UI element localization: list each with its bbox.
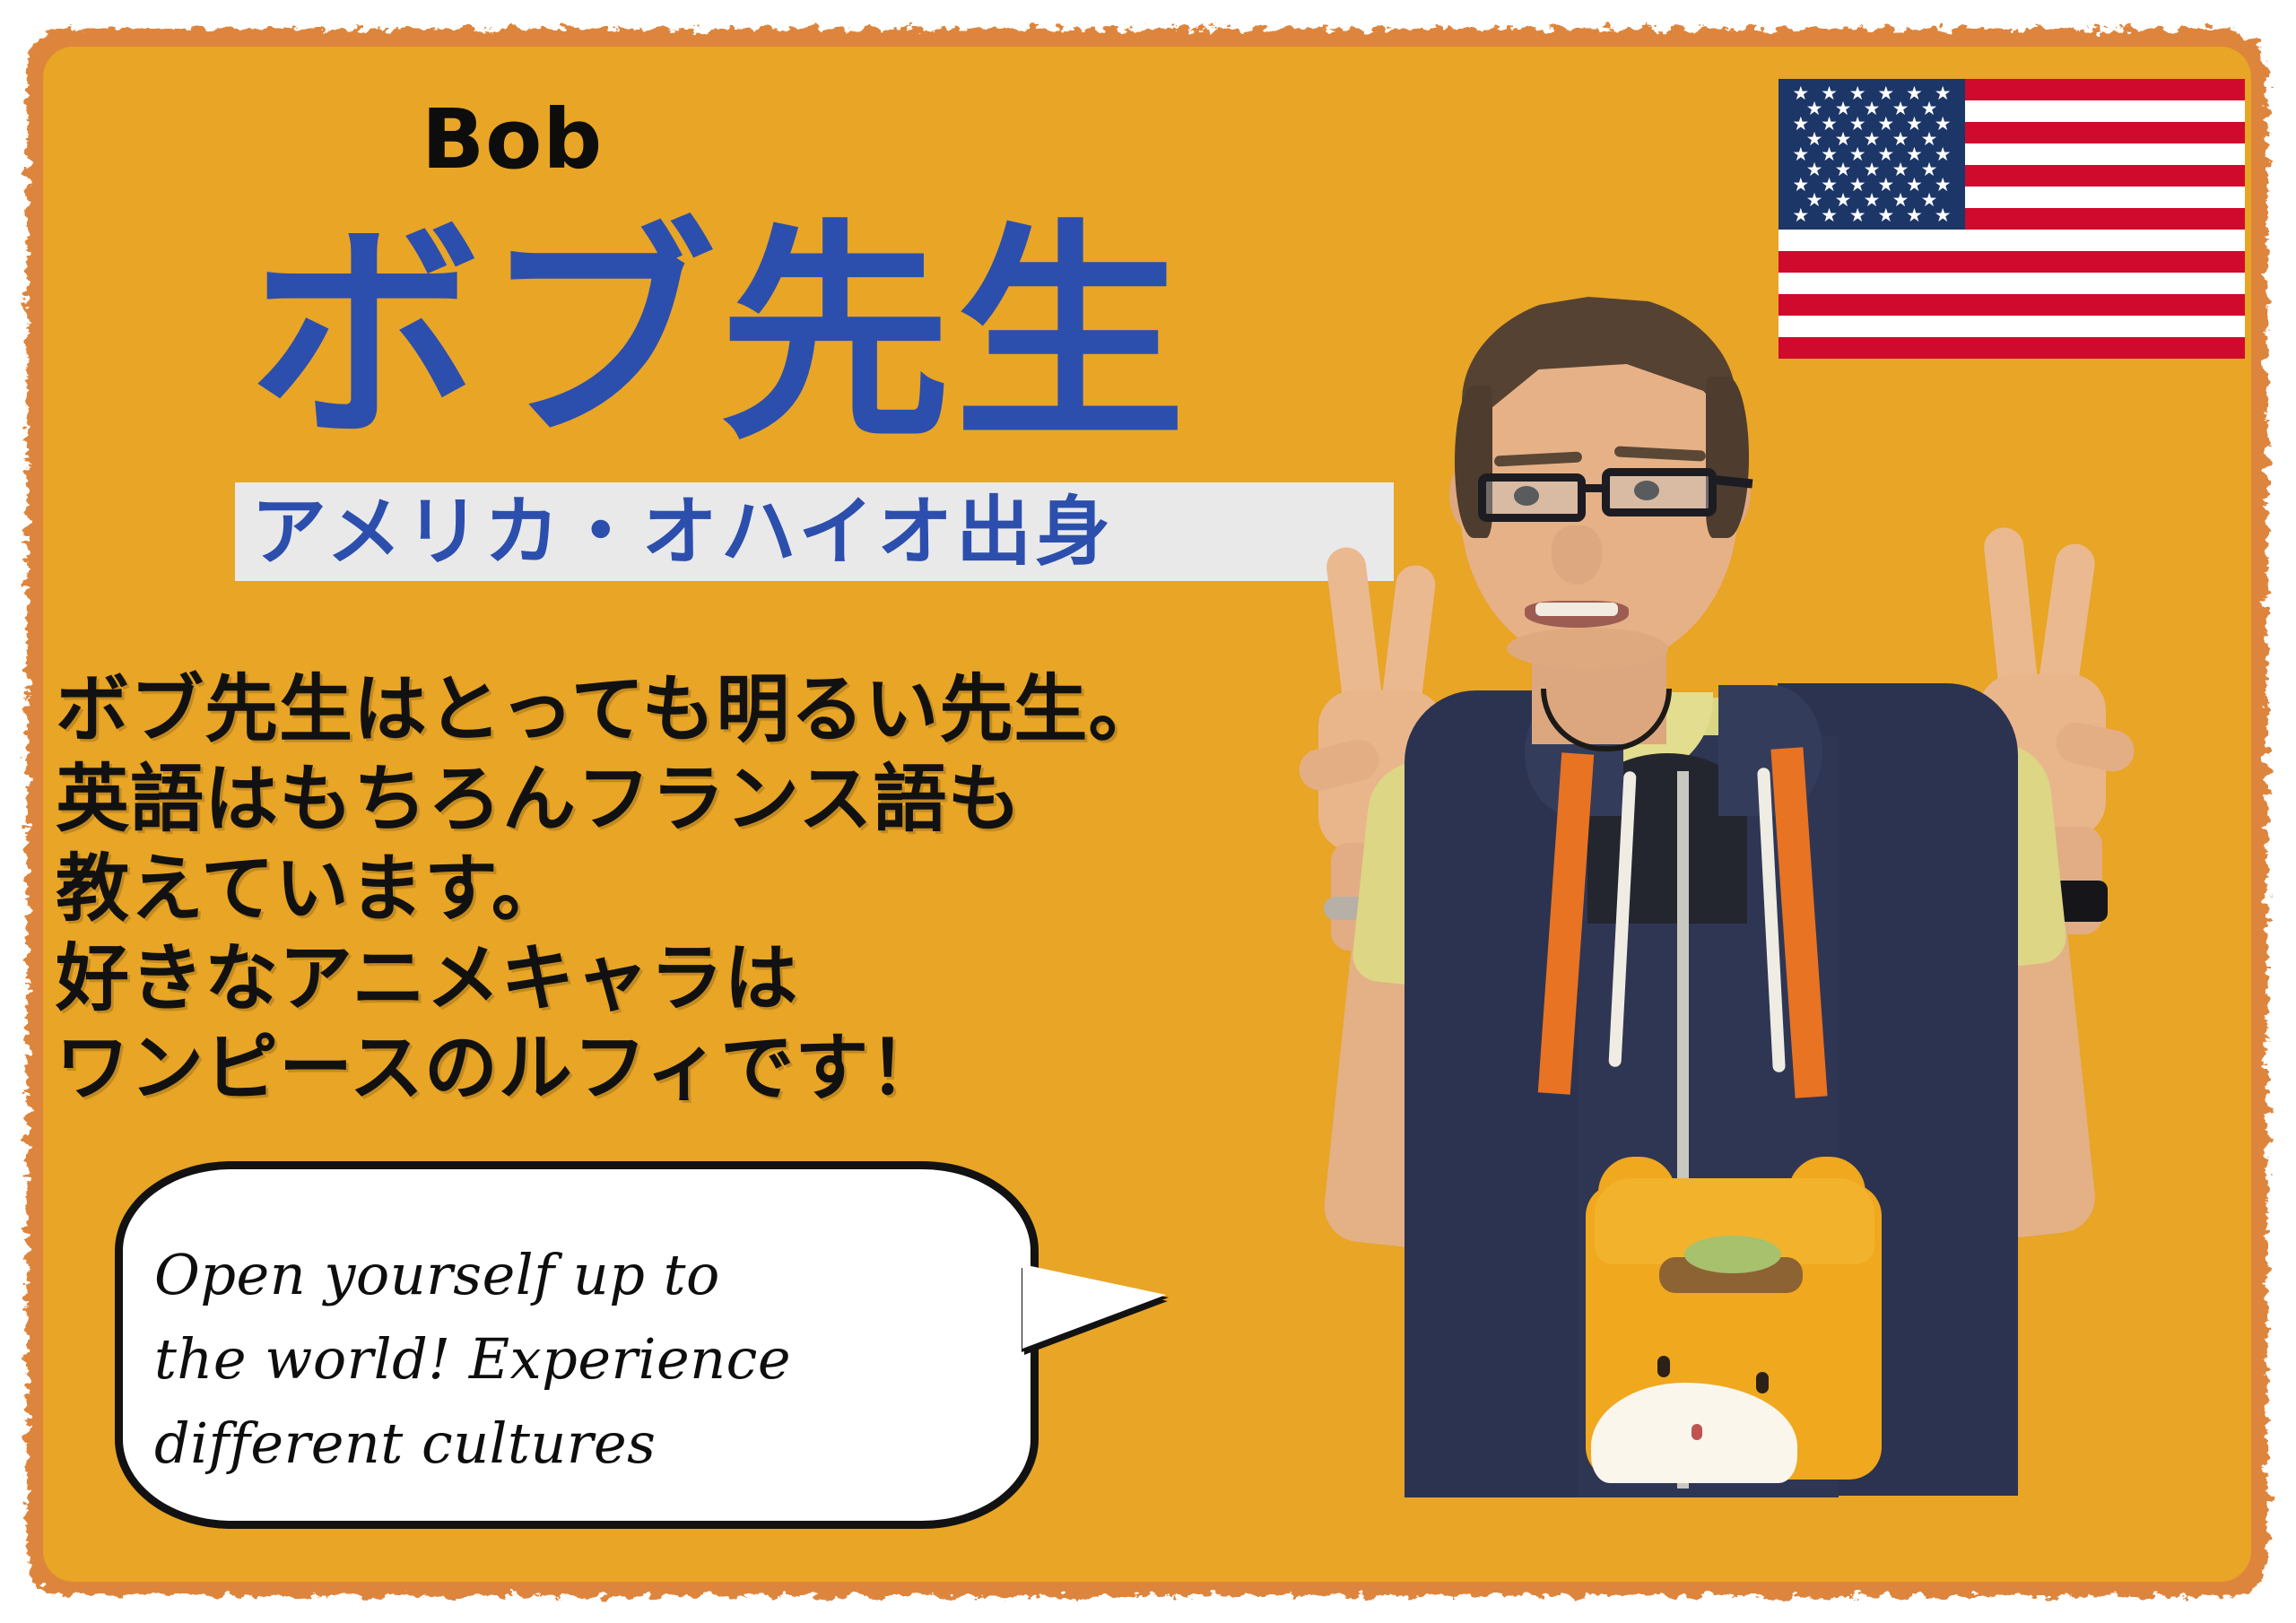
speech-bubble-tail (1022, 1264, 1166, 1349)
eyeglasses-right-lens (1602, 468, 1717, 516)
speech-bubble-text: Open yourself up to the world! Experienc… (154, 1233, 944, 1487)
page-title-japanese: ボブ先生 (249, 215, 1189, 456)
eyeglasses-left-lens (1478, 473, 1586, 522)
origin-band-label: アメリカ・オハイオ出身 (235, 494, 1114, 569)
plush-bag-eye-left (1657, 1356, 1670, 1377)
plush-bag-eye-right (1756, 1372, 1769, 1393)
nose (1552, 525, 1602, 585)
chin (1507, 628, 1668, 669)
teacher-photo (1193, 269, 2251, 1582)
plush-bag-mouth (1692, 1424, 1702, 1440)
page-title-roman: Bob (422, 99, 603, 181)
eyeglasses-bridge (1584, 484, 1605, 492)
profile-poster: Bob ボブ先生 アメリカ・オハイオ出身 ボブ先生はとっても明るい先生。 英語は… (0, 0, 2296, 1623)
flag-canton: ★★★★★★ ★★★★★ ★★★★★★ ★★★★★ ★★★★★★ ★★★★★ ★… (1779, 79, 1965, 230)
plush-bag-leaf (1684, 1236, 1781, 1273)
teeth (1535, 603, 1618, 616)
bio-text: ボブ先生はとっても明るい先生。 英語はもちろんフランス語も 教えています。 好き… (56, 665, 1162, 1114)
